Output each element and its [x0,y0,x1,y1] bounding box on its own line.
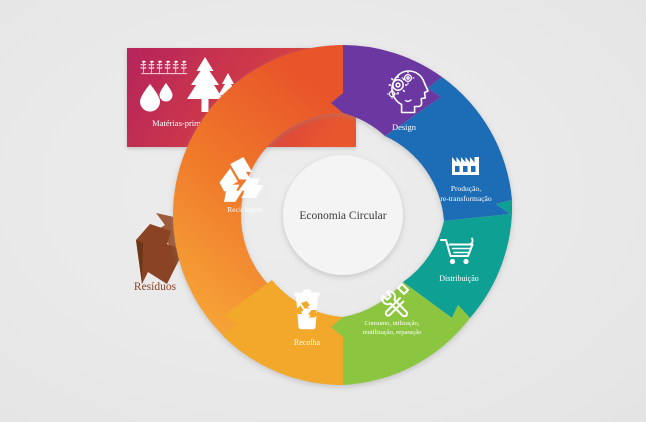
diagram-canvas: Matérias-primas Resíduos Economia [0,0,646,422]
waste-arrow-shade [136,240,143,284]
waste-label: Resíduos [134,281,177,293]
circular-economy-diagram: Matérias-primas Resíduos Economia [0,0,646,422]
center-label: Economia Circular [299,210,386,222]
recycle-bin-icon [295,290,320,330]
